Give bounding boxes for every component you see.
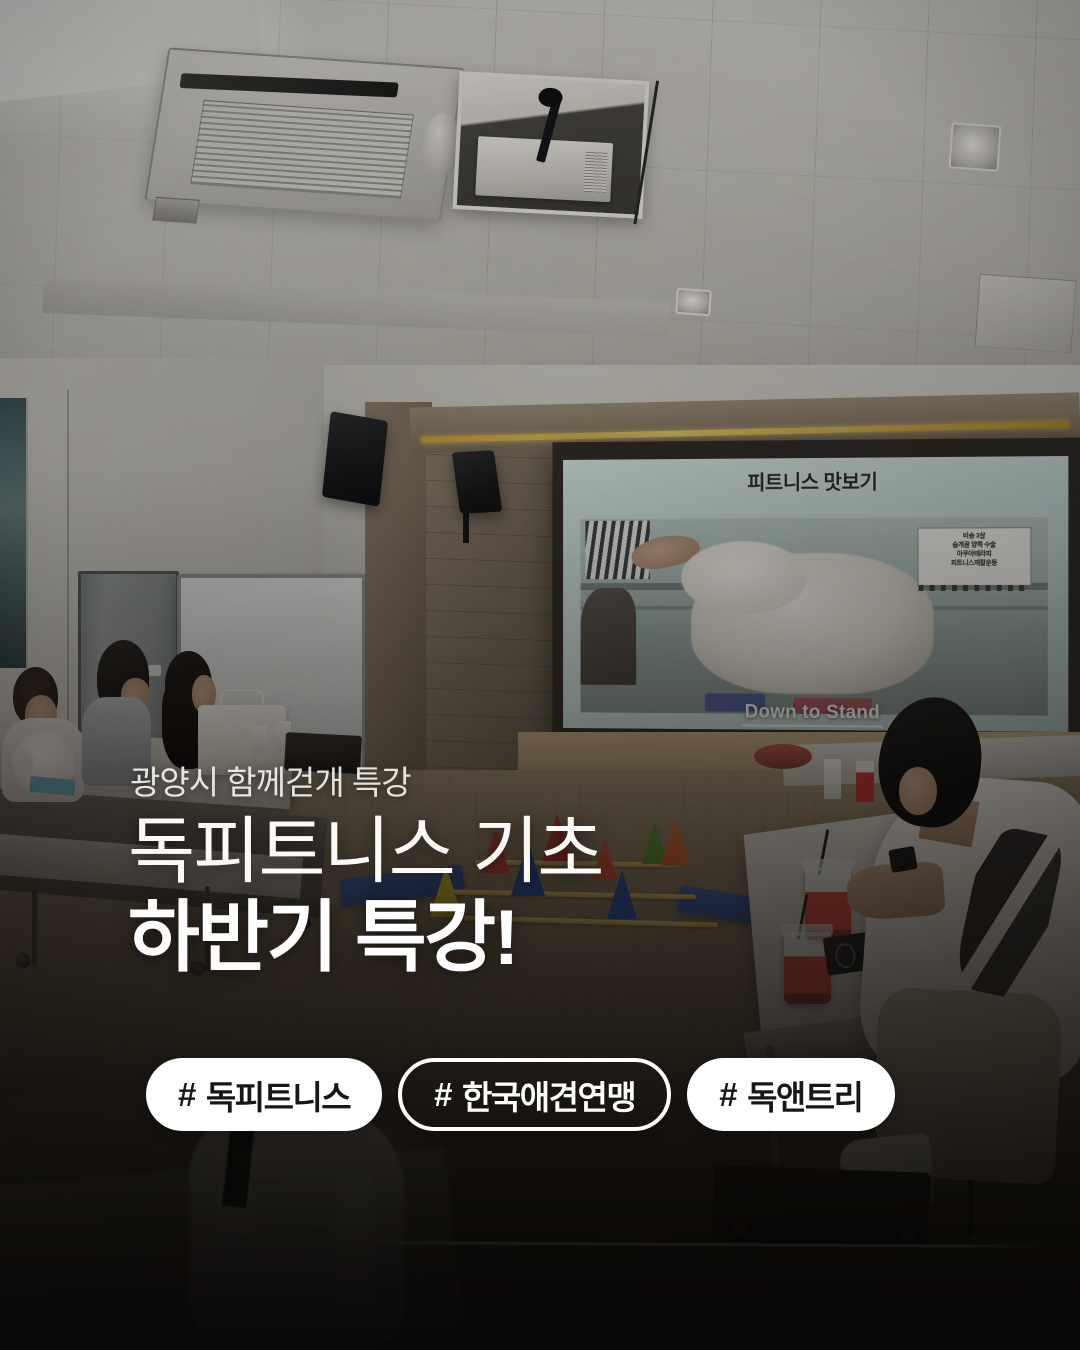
dog-bandana bbox=[30, 776, 77, 796]
hashtag-label: 독피트니스 bbox=[206, 1071, 350, 1119]
slide-caption: Down to Stand bbox=[563, 701, 1068, 727]
table-leg bbox=[32, 891, 37, 967]
hashtag-list: # 독피트니스 # 한국애견연맹 # 독앤트리 bbox=[146, 1058, 895, 1131]
sign-line-2: 슬개골 양쪽 수술 bbox=[920, 540, 1028, 550]
hashtag-label: 독앤트리 bbox=[747, 1071, 862, 1119]
slide-photo: 비숑 3살 슬개골 양쪽 수술 아쿠아테라피 피트니스재활운동 bbox=[580, 517, 1047, 715]
ac-louver-bar bbox=[179, 72, 398, 97]
water-bottle bbox=[253, 726, 267, 757]
sign-line-1: 비숑 3살 bbox=[920, 531, 1028, 541]
slide-info-sign: 비숑 3살 슬개골 양쪽 수술 아쿠아테라피 피트니스재활운동 bbox=[917, 527, 1031, 586]
sign-line-4: 피트니스재활운동 bbox=[920, 559, 1028, 568]
hashtag-pill-kkf[interactable]: # 한국애견연맹 bbox=[398, 1058, 671, 1131]
ac-cassette-unit bbox=[144, 47, 465, 222]
projection-screen-frame: 피트니스 맛보기 비숑 3살 슬개골 양쪽 수술 아쿠아테라피 피 bbox=[552, 438, 1080, 748]
hashtag-pill-dogfitness[interactable]: # 독피트니스 bbox=[146, 1058, 382, 1131]
speaker-bracket bbox=[463, 505, 468, 543]
projection-screen: 피트니스 맛보기 비숑 3살 슬개골 양쪽 수술 아쿠아테라피 피 bbox=[563, 456, 1068, 732]
ac-side-vent bbox=[151, 197, 199, 224]
seated-man-hand bbox=[899, 767, 938, 816]
downlight-icon bbox=[949, 123, 1002, 172]
slide-title: 피트니스 맛보기 bbox=[563, 465, 1068, 497]
hash-icon: # bbox=[719, 1076, 736, 1114]
cup-lid bbox=[781, 924, 833, 936]
tote-bag-handle bbox=[220, 689, 263, 711]
ac-grille bbox=[190, 100, 414, 199]
projector-knob bbox=[538, 87, 563, 108]
slide-handler-arm bbox=[580, 589, 635, 686]
hashtag-label: 한국애견연맹 bbox=[462, 1071, 635, 1119]
ceiling-projector-mount bbox=[452, 71, 649, 218]
hash-icon: # bbox=[178, 1076, 195, 1114]
wall-speaker-left-icon bbox=[322, 411, 389, 507]
window-strip bbox=[0, 398, 28, 668]
cup-lid bbox=[802, 859, 854, 871]
ceiling-vent bbox=[975, 273, 1077, 352]
wristwatch-icon bbox=[888, 846, 917, 873]
photo-background: 피트니스 맛보기 비숑 3살 슬개골 양쪽 수술 아쿠아테라피 피 bbox=[0, 0, 1080, 1350]
hashtag-pill-dogandtree[interactable]: # 독앤트리 bbox=[687, 1058, 894, 1131]
wall-speaker-right-icon bbox=[451, 450, 502, 514]
door-handle-icon bbox=[148, 665, 161, 676]
dark-equipment-case bbox=[284, 732, 361, 774]
downlight-icon bbox=[675, 288, 711, 316]
wall-corner-line bbox=[67, 389, 69, 727]
hash-icon: # bbox=[434, 1076, 451, 1114]
white-tote-bag bbox=[198, 705, 287, 775]
table-leg bbox=[205, 886, 210, 972]
slide-dog-head bbox=[681, 542, 806, 614]
sign-footer-bar bbox=[918, 585, 1030, 591]
sign-line-3: 아쿠아테라피 bbox=[920, 550, 1028, 560]
attendee-2-body bbox=[82, 697, 151, 786]
foreground-dog-leg bbox=[335, 1175, 374, 1321]
condiment-bottle bbox=[824, 759, 841, 800]
condiment-bottle bbox=[856, 761, 873, 802]
poster-card: 피트니스 맛보기 비숑 3살 슬개골 양쪽 수술 아쿠아테라피 피 bbox=[0, 0, 1080, 1350]
